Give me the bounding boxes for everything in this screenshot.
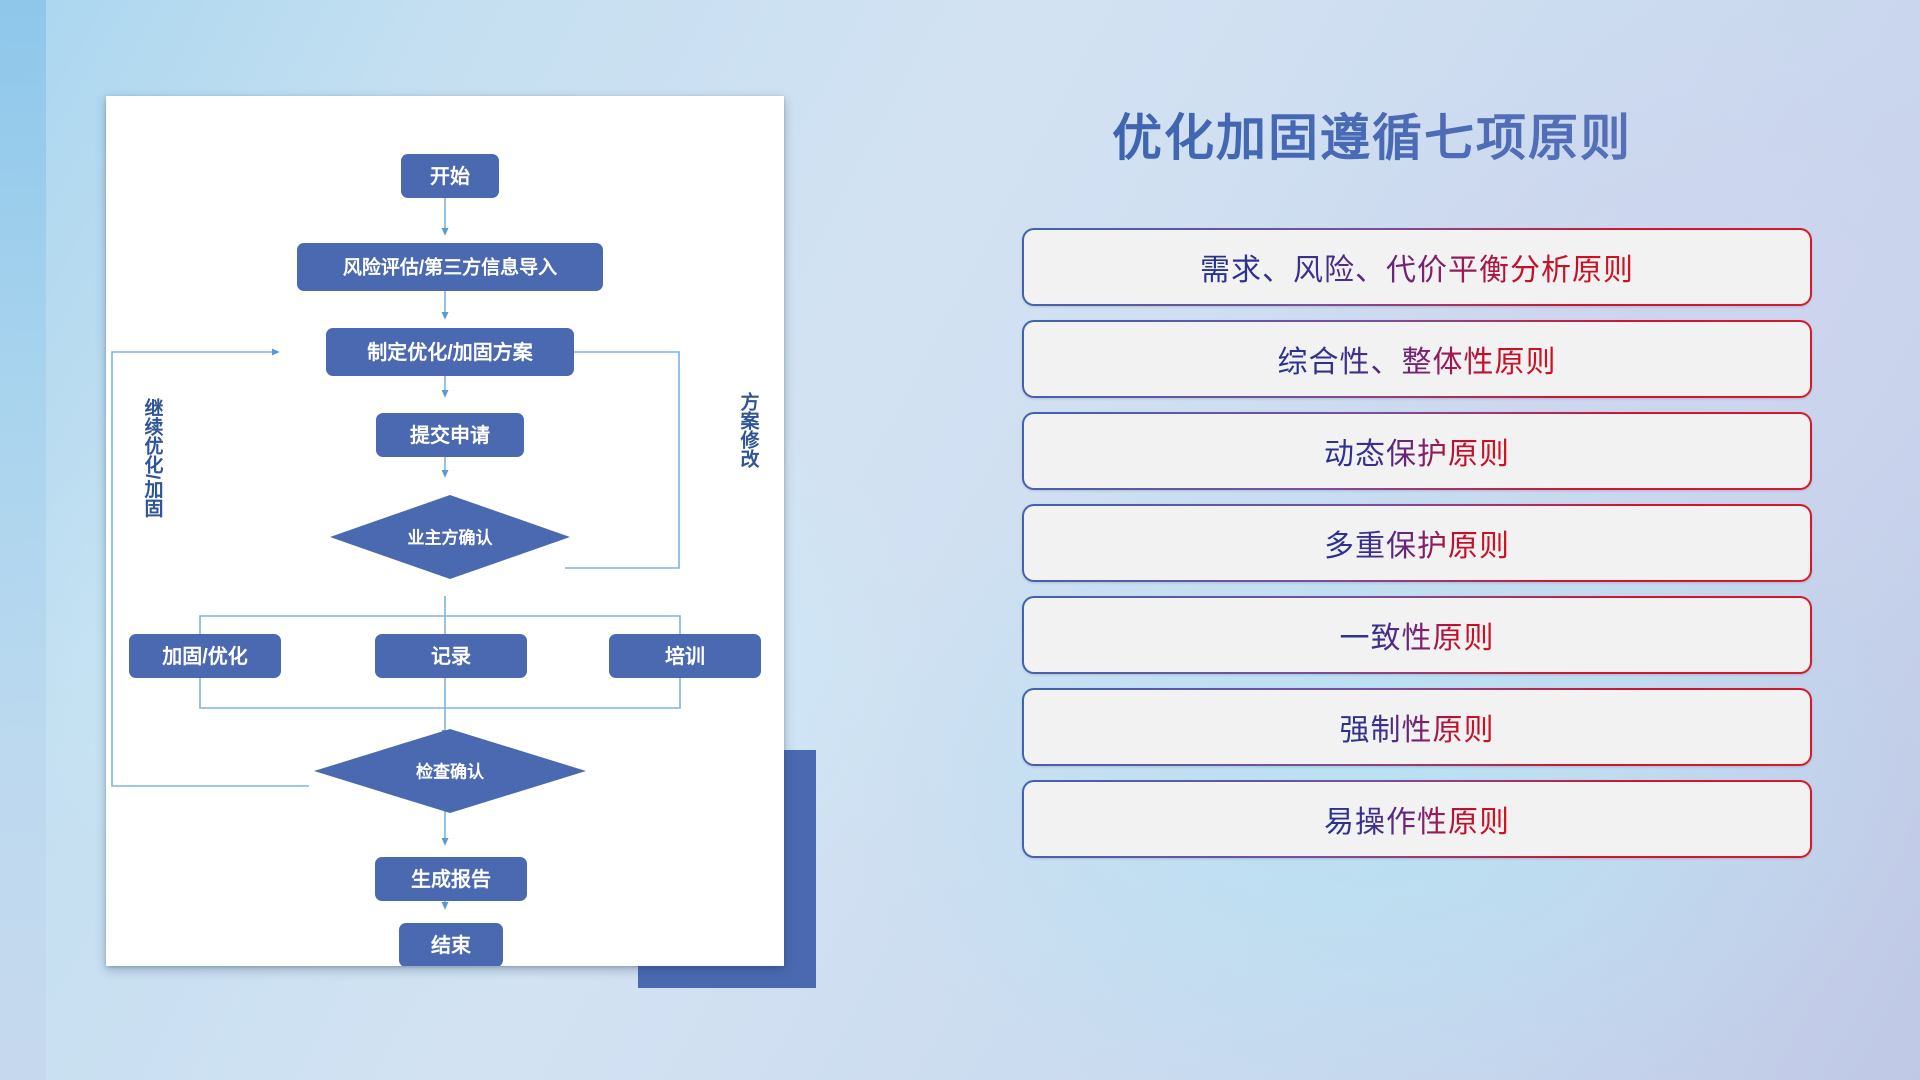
principle-box-inner: 需求、风险、代价平衡分析原则 [1024,230,1810,304]
flow-node-record[interactable]: 记录 [375,634,527,678]
page-title: 优化加固遵循七项原则 [1022,110,1722,168]
principle-box-7[interactable]: 易操作性原则 [1022,780,1812,858]
principle-label: 需求、风险、代价平衡分析原则 [1200,245,1634,289]
principle-box-inner: 动态保护原则 [1024,414,1810,488]
principle-box-inner: 易操作性原则 [1024,782,1810,856]
principle-box-4[interactable]: 多重保护原则 [1022,504,1812,582]
flow-node-plan[interactable]: 制定优化/加固方案 [326,328,574,376]
principle-box-2[interactable]: 综合性、整体性原则 [1022,320,1812,398]
flow-node-label: 开始 [430,164,470,188]
flow-node-start[interactable]: 开始 [401,154,499,198]
flow-node-report[interactable]: 生成报告 [375,857,527,901]
flow-node-label: 制定优化/加固方案 [367,340,534,364]
flow-node-end[interactable]: 结束 [399,923,503,966]
flow-node-ownercfm[interactable]: 业主方确认 [330,495,570,579]
principle-box-1[interactable]: 需求、风险、代价平衡分析原则 [1022,228,1812,306]
flow-node-label: 结束 [431,933,472,957]
flow-node-label: 生成报告 [411,867,491,891]
flow-node-label: 培训 [665,644,705,668]
flow-node-inspect[interactable]: 检查确认 [314,729,586,813]
flow-node-label: 检查确认 [416,762,485,782]
flow-node-training[interactable]: 培训 [609,634,761,678]
principle-label: 多重保护原则 [1324,521,1510,565]
slide-canvas: 开始风险评估/第三方信息导入制定优化/加固方案提交申请业主方确认加固/优化记录培… [0,0,1920,1080]
flowchart-card: 开始风险评估/第三方信息导入制定优化/加固方案提交申请业主方确认加固/优化记录培… [106,96,784,966]
principle-label: 一致性原则 [1340,613,1495,657]
flow-node-label: 业主方确认 [408,528,494,548]
principle-box-inner: 一致性原则 [1024,598,1810,672]
principles-list: 需求、风险、代价平衡分析原则综合性、整体性原则动态保护原则多重保护原则一致性原则… [1022,228,1812,872]
principle-box-3[interactable]: 动态保护原则 [1022,412,1812,490]
principle-box-inner: 强制性原则 [1024,690,1810,764]
flow-side-label-right-loop: 方案修改 [738,391,761,469]
principle-label: 易操作性原则 [1324,797,1510,841]
flow-node-label: 风险评估/第三方信息导入 [343,256,557,279]
principle-box-5[interactable]: 一致性原则 [1022,596,1812,674]
flow-node-submit[interactable]: 提交申请 [376,413,524,457]
flow-node-risk[interactable]: 风险评估/第三方信息导入 [297,243,603,291]
flow-node-label: 记录 [431,645,471,668]
flowchart-canvas: 开始风险评估/第三方信息导入制定优化/加固方案提交申请业主方确认加固/优化记录培… [106,96,784,966]
principle-label: 强制性原则 [1340,705,1495,749]
flow-side-label-left-loop: 继续优化/加固 [142,397,165,518]
flow-node-label: 加固/优化 [161,644,248,668]
flow-node-label: 提交申请 [410,423,490,447]
principle-label: 动态保护原则 [1324,429,1510,473]
flowchart-nodes: 开始风险评估/第三方信息导入制定优化/加固方案提交申请业主方确认加固/优化记录培… [129,154,761,966]
principle-box-inner: 综合性、整体性原则 [1024,322,1810,396]
flow-node-reinforce[interactable]: 加固/优化 [129,634,281,678]
principle-box-inner: 多重保护原则 [1024,506,1810,580]
principle-box-6[interactable]: 强制性原则 [1022,688,1812,766]
flowchart-svg: 开始风险评估/第三方信息导入制定优化/加固方案提交申请业主方确认加固/优化记录培… [106,96,784,966]
principle-label: 综合性、整体性原则 [1278,337,1557,381]
